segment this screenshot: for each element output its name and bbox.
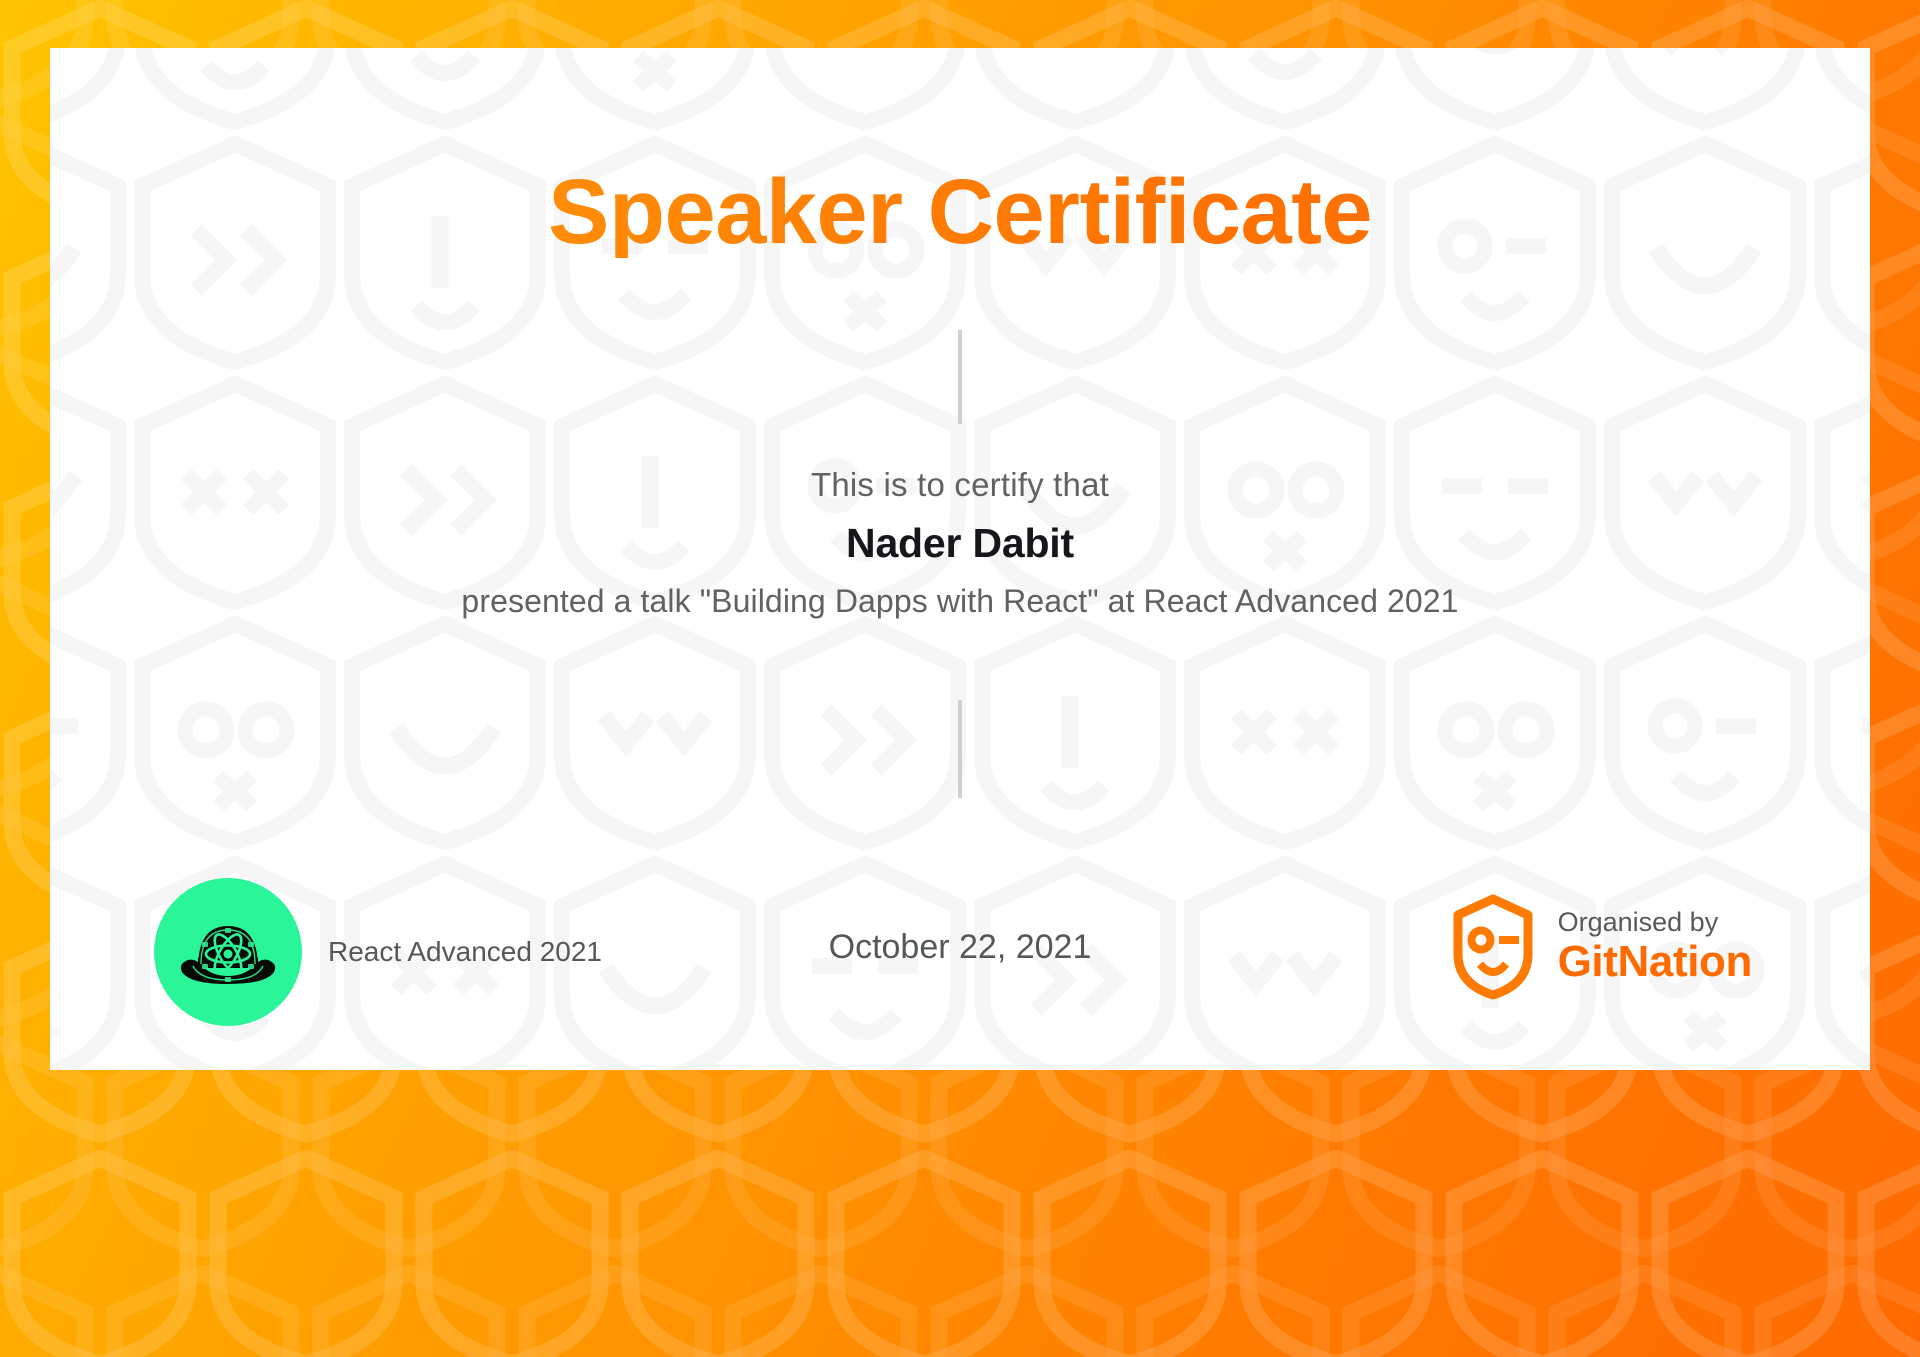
organiser-text: Organised by GitNation [1558,907,1752,987]
gitnation-shield-face-icon [1450,894,1536,1000]
divider-top [958,330,962,424]
page-title: Speaker Certificate [50,166,1870,258]
organiser-name: GitNation [1558,937,1752,986]
certificate-card: Speaker Certificate This is to certify t… [50,48,1870,1070]
divider-bottom [958,700,962,798]
talk-description: presented a talk "Building Dapps with Re… [50,583,1870,620]
organiser-block: Organised by GitNation [1450,894,1752,1000]
organised-by-label: Organised by [1558,907,1752,937]
recipient-name: Nader Dabit [50,520,1870,567]
certify-line: This is to certify that [50,466,1870,504]
certificate-footer: React Advanced 2021 October 22, 2021 Org… [50,850,1870,1070]
certificate: Speaker Certificate This is to certify t… [0,0,1920,1357]
